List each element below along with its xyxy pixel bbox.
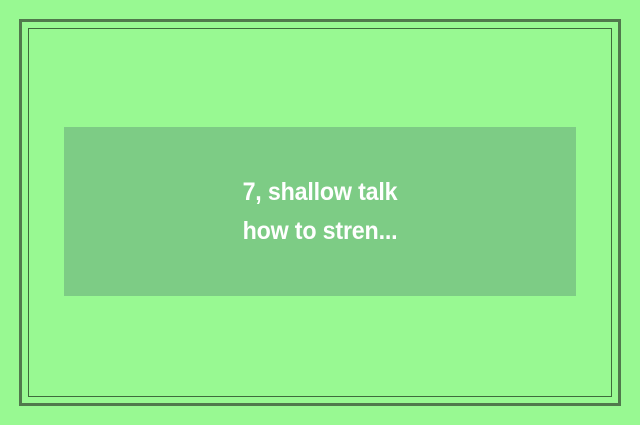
- quote-line-2: how to stren...: [82, 212, 558, 251]
- quote-card: 7, shallow talk how to stren...: [64, 127, 576, 296]
- quote-line-1: 7, shallow talk: [82, 173, 558, 212]
- slide-canvas: 7, shallow talk how to stren...: [0, 0, 640, 425]
